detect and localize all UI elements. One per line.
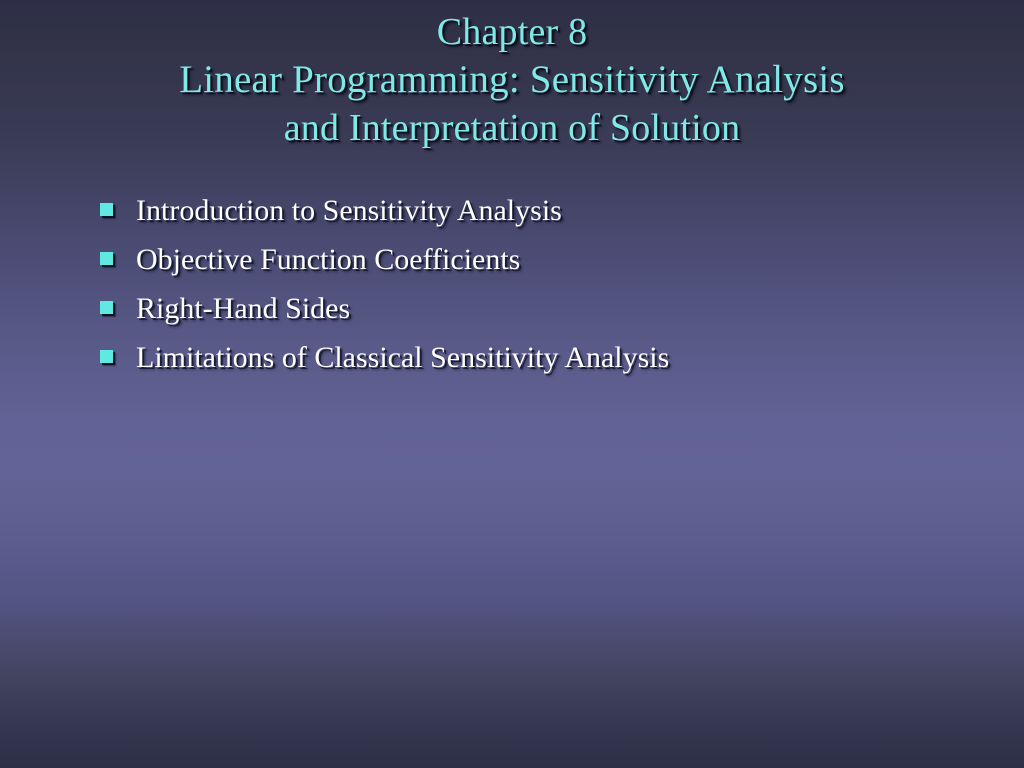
slide-title-line-3: and Interpretation of Solution <box>0 104 1024 152</box>
bullet-item-label: Limitations of Classical Sensitivity Ana… <box>136 339 669 377</box>
presentation-slide: Chapter 8 Linear Programming: Sensitivit… <box>0 0 1024 768</box>
bullet-item-label: Introduction to Sensitivity Analysis <box>136 192 562 230</box>
square-bullet-icon <box>100 203 113 216</box>
bullet-item-label: Right-Hand Sides <box>136 290 350 328</box>
bullet-item-label: Objective Function Coefficients <box>136 241 520 279</box>
square-bullet-icon <box>100 350 113 363</box>
square-bullet-icon <box>100 252 113 265</box>
list-item: Objective Function Coefficients <box>100 241 980 290</box>
list-item: Limitations of Classical Sensitivity Ana… <box>100 339 980 388</box>
slide-bullet-list: Introduction to Sensitivity Analysis Obj… <box>100 192 980 388</box>
list-item: Right-Hand Sides <box>100 290 980 339</box>
list-item: Introduction to Sensitivity Analysis <box>100 192 980 241</box>
slide-title-line-1: Chapter 8 <box>0 8 1024 56</box>
slide-title-line-2: Linear Programming: Sensitivity Analysis <box>0 56 1024 104</box>
slide-title: Chapter 8 Linear Programming: Sensitivit… <box>0 8 1024 152</box>
square-bullet-icon <box>100 301 113 314</box>
